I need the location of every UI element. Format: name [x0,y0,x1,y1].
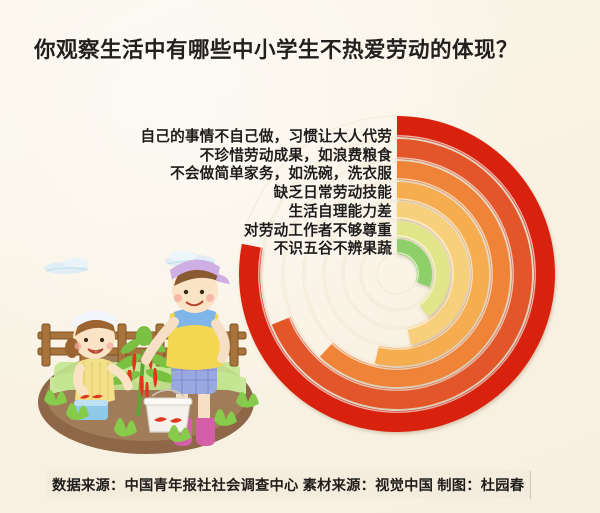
chart-label-list: 自己的事情不自己做，习惯让大人代劳 不珍惜劳动成果，如浪费粮食 不会做简单家务，… [80,128,392,259]
cloud-icon-left [44,258,89,274]
page-title: 你观察生活中有哪些中小学生不热爱劳动的体现？ [34,38,574,64]
chart-label-4: 缺乏日常劳动技能 [80,184,392,203]
chart-label-7: 不识五谷不辨果蔬 [80,240,392,259]
illustration-svg [28,250,266,458]
footer: 数据来源：中国青年报社社会调查中心 素材来源：视觉中国 制图：杜园春 [0,461,600,513]
footer-source-bar: 数据来源：中国青年报社社会调查中心 素材来源：视觉中国 制图：杜园春 [46,471,531,499]
chart-label-6: 对劳动工作者不够尊重 [80,222,392,241]
chart-label-2: 不珍惜劳动成果，如浪费粮食 [80,147,392,166]
infographic-poster: 你观察生活中有哪些中小学生不热爱劳动的体现？ 自己的事情不自己做，习惯让大人代劳… [0,0,600,513]
gardening-children-illustration [28,250,266,458]
chart-label-3: 不会做简单家务，如洗碗，洗衣服 [80,165,392,184]
footer-source-text: 数据来源：中国青年报社社会调查中心 素材来源：视觉中国 制图：杜园春 [52,478,524,494]
chart-label-1: 自己的事情不自己做，习惯让大人代劳 [80,128,392,147]
chart-label-5: 生活自理能力差 [80,203,392,222]
